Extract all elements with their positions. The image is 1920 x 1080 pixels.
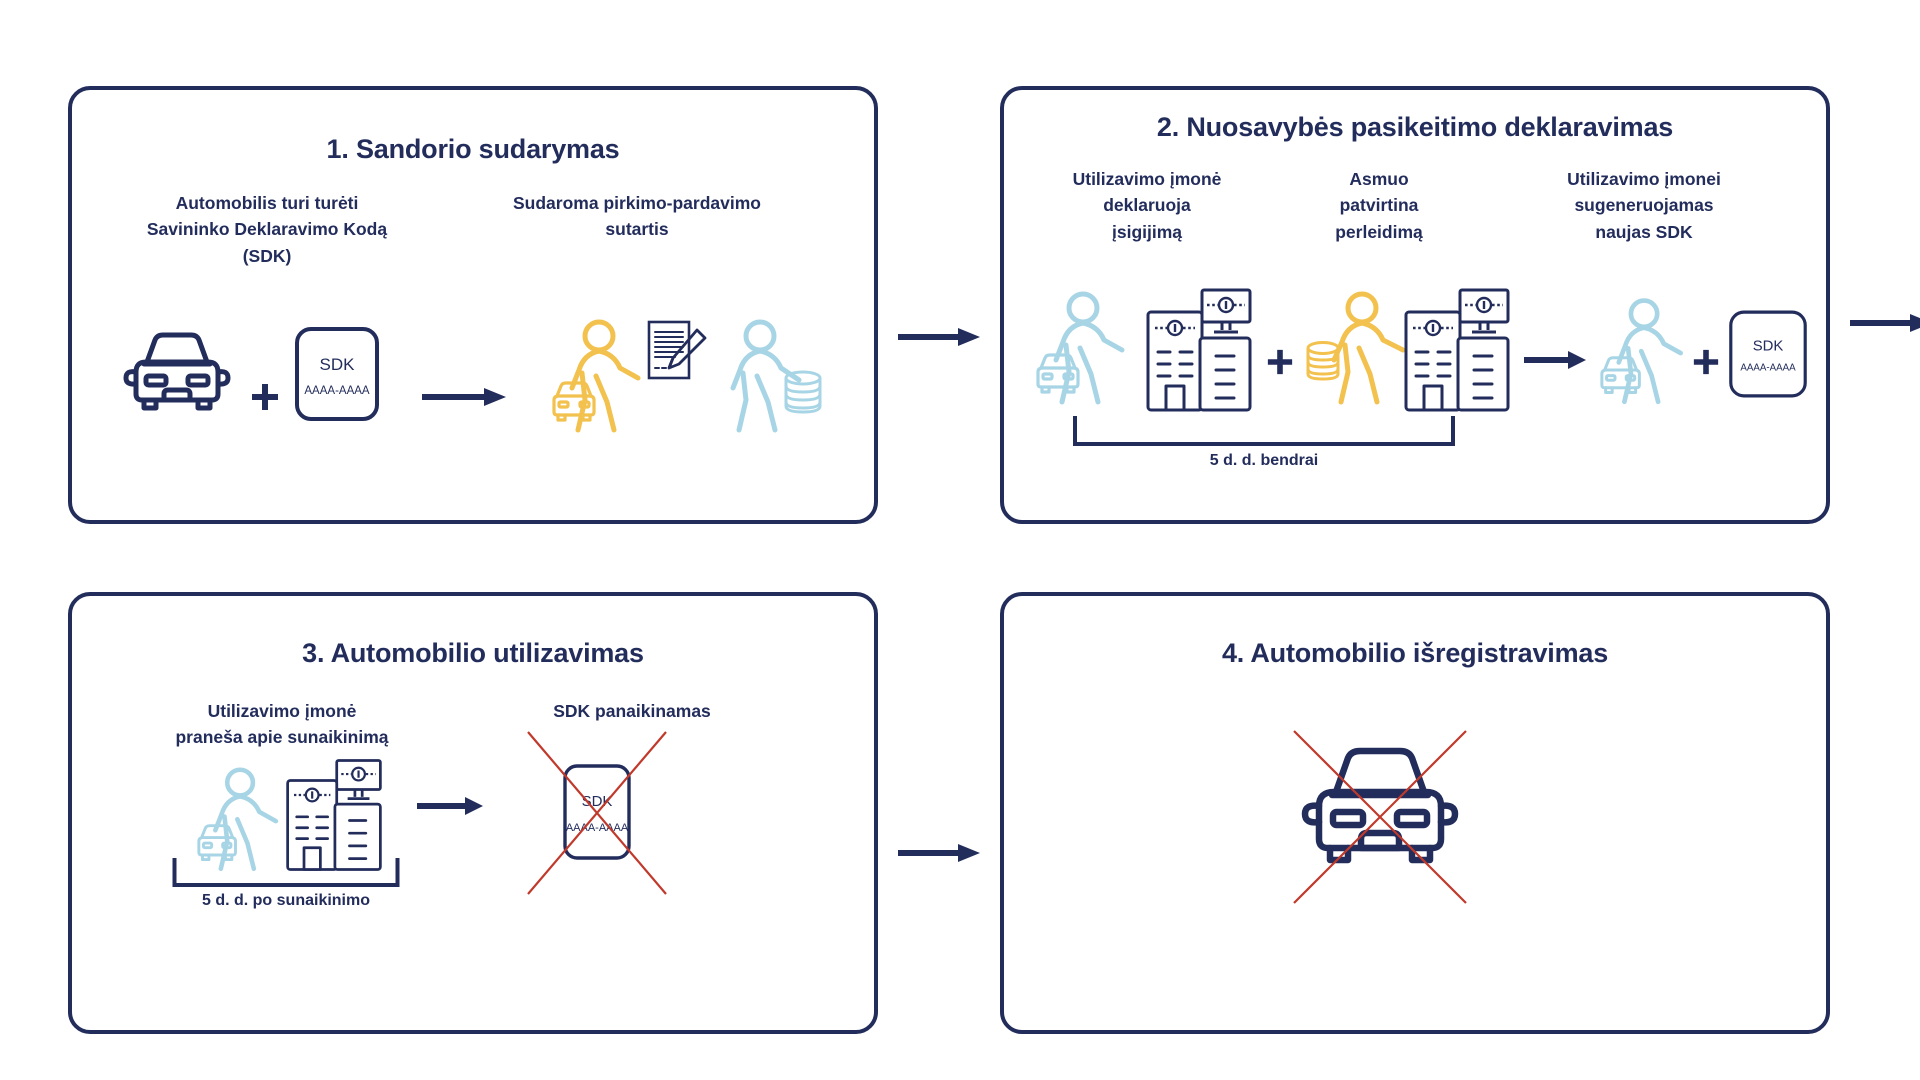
panel-3-caption-1-line-1: Utilizavimo įmonė <box>112 698 452 724</box>
panel-2-caption-1: Utilizavimo įmonė deklaruoja įsigijimą <box>1022 166 1272 245</box>
sdk-card-code: AAAA-AAAA <box>1740 363 1796 374</box>
panel-2-caption-3: Utilizavimo įmonei sugeneruojamas naujas… <box>1494 166 1794 245</box>
connector-panel2-to-next <box>1850 312 1920 334</box>
panel-1-caption-1: Automobilis turi turėti Savininko Deklar… <box>102 190 432 269</box>
panel-1-caption-2-line-1: Sudaroma pirkimo-pardavimo <box>447 190 827 216</box>
panel-automobilio-isregistravimas[interactable]: 4. Automobilio išregistravimas <box>1000 592 1830 1034</box>
person-with-coins-yellow-icon <box>1304 290 1414 412</box>
panel-4-title: 4. Automobilio išregistravimas <box>1004 638 1826 669</box>
arrow-right-icon <box>1524 350 1586 370</box>
office-building-icon <box>1144 286 1254 414</box>
panel-1-caption-1-line-2: Savininko Deklaravimo Kodą <box>102 216 432 242</box>
sdk-card-label: SDK <box>320 355 356 374</box>
panel-3-caption-1: Utilizavimo įmonė praneša apie sunaikini… <box>112 698 452 751</box>
duration-bracket <box>172 858 400 888</box>
panel-2-caption-1-line-1: Utilizavimo įmonė <box>1022 166 1272 192</box>
panel-1-caption-1-line-3: (SDK) <box>102 243 432 269</box>
contract-document-icon <box>645 318 711 396</box>
office-building-icon <box>284 756 384 874</box>
panel-2-caption-3-line-2: sugeneruojamas <box>1494 192 1794 218</box>
panel-2-title: 2. Nuosavybės pasikeitimo deklaravimas <box>1004 112 1826 143</box>
person-with-car-blue-icon <box>1600 296 1690 412</box>
plus-icon <box>1266 348 1294 376</box>
panel-2-caption-2-line-1: Asmuo <box>1284 166 1474 192</box>
plus-icon <box>250 382 280 412</box>
person-with-car-yellow-icon <box>552 318 648 440</box>
sdk-card-label: SDK <box>1753 338 1784 354</box>
sdk-card-cancelled-icon: SDK AAAA-AAAA <box>522 726 672 901</box>
panel-1-title: 1. Sandorio sudarymas <box>72 134 874 165</box>
car-cancelled-icon <box>1289 726 1471 908</box>
arrow-right-icon <box>417 796 483 816</box>
panel-2-caption-1-line-3: įsigijimą <box>1022 219 1272 245</box>
panel-sandorio-sudarymas[interactable]: 1. Sandorio sudarymas Automobilis turi t… <box>68 86 878 524</box>
panel-3-caption-2-line-1: SDK panaikinamas <box>472 698 792 724</box>
panel-2-caption-1-line-2: deklaruoja <box>1022 192 1272 218</box>
diagram-canvas: 1. Sandorio sudarymas Automobilis turi t… <box>0 0 1920 1080</box>
panel-2-caption-3-line-1: Utilizavimo įmonei <box>1494 166 1794 192</box>
sdk-card-icon: SDK AAAA-AAAA <box>1728 308 1808 400</box>
panel-1-caption-2: Sudaroma pirkimo-pardavimo sutartis <box>447 190 827 243</box>
panel-3-caption-1-line-2: praneša apie sunaikinimą <box>112 724 452 750</box>
panel-1-caption-1-line-1: Automobilis turi turėti <box>102 190 432 216</box>
person-with-car-blue-icon <box>1036 290 1132 412</box>
panel-2-caption-2-line-3: perleidimą <box>1284 219 1474 245</box>
arrow-right-icon <box>1850 314 1920 332</box>
connector-panel3-to-panel4 <box>898 842 980 864</box>
panel-1-caption-2-line-2: sutartis <box>447 216 827 242</box>
arrow-right-icon <box>422 386 506 408</box>
car-icon <box>122 328 232 418</box>
plus-icon <box>1692 348 1720 376</box>
arrow-right-icon <box>898 328 980 346</box>
panel-2-caption-3-line-3: naujas SDK <box>1494 219 1794 245</box>
panel-2-bracket-label: 5 d. d. bendrai <box>1072 452 1456 470</box>
panel-3-caption-2: SDK panaikinamas <box>472 698 792 724</box>
office-building-icon <box>1402 286 1512 414</box>
sdk-card-code: AAAA-AAAA <box>566 822 629 834</box>
connector-panel1-to-panel2 <box>898 326 980 348</box>
red-cross-icon <box>528 732 666 894</box>
panel-automobilio-utilizavimas[interactable]: 3. Automobilio utilizavimas Utilizavimo … <box>68 592 878 1034</box>
panel-2-caption-2-line-2: patvirtina <box>1284 192 1474 218</box>
person-with-coins-blue-icon <box>720 318 830 440</box>
panel-3-bracket-label: 5 d. d. po sunaikinimo <box>166 892 406 910</box>
panel-3-title: 3. Automobilio utilizavimas <box>72 638 874 669</box>
sdk-card-code: AAAA-AAAA <box>304 385 370 397</box>
sdk-card-icon: SDK AAAA-AAAA <box>294 326 380 422</box>
duration-bracket <box>1072 416 1456 448</box>
panel-nuosavybes-pasikeitimo-deklaravimas[interactable]: 2. Nuosavybės pasikeitimo deklaravimas U… <box>1000 86 1830 524</box>
panel-2-caption-2: Asmuo patvirtina perleidimą <box>1284 166 1474 245</box>
arrow-right-icon <box>898 844 980 862</box>
